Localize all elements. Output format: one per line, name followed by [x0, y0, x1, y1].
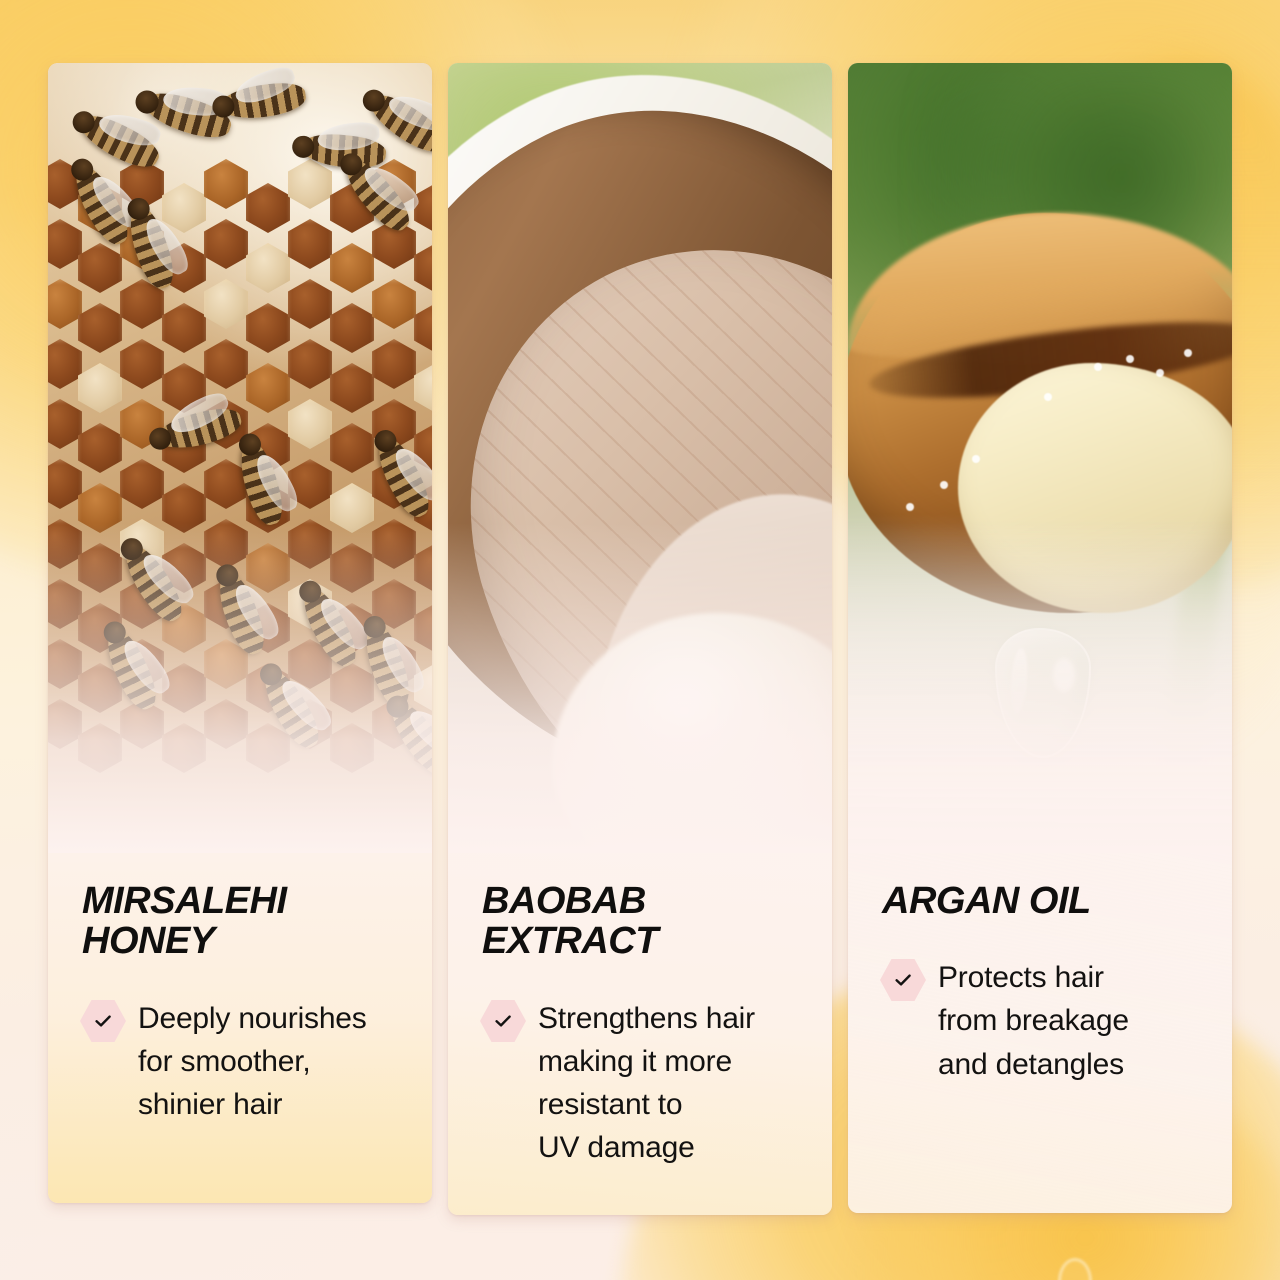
ingredient-photo-argan	[848, 63, 1232, 853]
photo-fade-overlay	[448, 523, 832, 853]
photo-fade-overlay	[848, 523, 1232, 853]
benefit-row: Protects hair from breakage and detangle…	[882, 955, 1198, 1086]
card-body: ARGAN OIL Protects hair from breakage an…	[848, 853, 1232, 1086]
ingredient-photo-baobab	[448, 63, 832, 853]
card-body: MIRSALEHI HONEY Deeply nourishes for smo…	[48, 853, 432, 1126]
benefit-row: Strengthens hair making it more resistan…	[482, 996, 798, 1170]
ingredient-title: BAOBAB EXTRACT	[482, 881, 798, 962]
ingredient-title: MIRSALEHI HONEY	[82, 881, 398, 962]
ingredient-card-argan-oil[interactable]: ARGAN OIL Protects hair from breakage an…	[848, 63, 1232, 1213]
ingredient-photo-honeycomb	[48, 63, 432, 853]
ingredient-card-row: MIRSALEHI HONEY Deeply nourishes for smo…	[48, 63, 1232, 1215]
ingredient-card-baobab-extract[interactable]: BAOBAB EXTRACT Strengthens hair making i…	[448, 63, 832, 1215]
ingredient-title: ARGAN OIL	[882, 881, 1198, 921]
photo-fade-overlay	[48, 523, 432, 853]
benefit-row: Deeply nourishes for smoother, shinier h…	[82, 996, 398, 1127]
benefit-text: Strengthens hair making it more resistan…	[538, 996, 755, 1170]
check-icon	[80, 1000, 126, 1042]
ingredient-infographic: MIRSALEHI HONEY Deeply nourishes for smo…	[0, 0, 1280, 1280]
card-body: BAOBAB EXTRACT Strengthens hair making i…	[448, 853, 832, 1169]
benefit-text: Deeply nourishes for smoother, shinier h…	[138, 996, 367, 1127]
check-icon	[880, 959, 926, 1001]
ingredient-card-mirsalehi-honey[interactable]: MIRSALEHI HONEY Deeply nourishes for smo…	[48, 63, 432, 1203]
check-icon	[480, 1000, 526, 1042]
benefit-text: Protects hair from breakage and detangle…	[938, 955, 1129, 1086]
